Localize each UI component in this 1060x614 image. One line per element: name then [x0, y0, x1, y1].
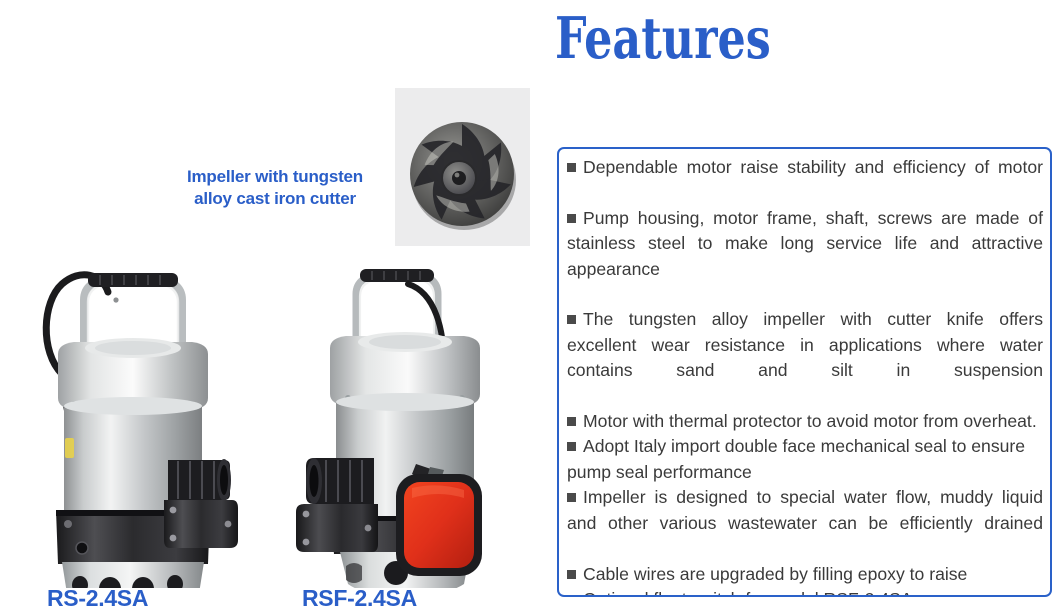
bullet-square-icon	[567, 417, 576, 426]
feature-text: Cable wires are upgraded by filling epox…	[583, 564, 967, 584]
bullet-square-icon	[567, 595, 576, 597]
feature-text: Motor with thermal protector to avoid mo…	[583, 411, 1037, 431]
impeller-caption-line1: Impeller with tungsten	[145, 166, 405, 188]
feature-text: Pump housing, motor frame, shaft, screws…	[567, 208, 1043, 279]
pump-image-rs	[18, 248, 253, 588]
pump-image-rsf	[288, 248, 523, 588]
model-label-rsf: RSF-2.4SA	[302, 585, 417, 612]
feature-item: Optional float switch for model RSF-2.4S…	[567, 587, 1043, 597]
feature-item: Adopt Italy import double face mechanica…	[567, 434, 1043, 485]
features-panel: Features Dependable motor raise stabilit…	[545, 0, 1060, 614]
feature-item: Impeller is designed to special water fl…	[567, 485, 1043, 561]
model-label-rs: RS-2.4SA	[47, 585, 148, 612]
feature-text: Adopt Italy import double face mechanica…	[567, 436, 1025, 481]
impeller-caption: Impeller with tungsten alloy cast iron c…	[145, 166, 405, 210]
feature-item: The tungsten alloy impeller with cutter …	[567, 307, 1043, 409]
bullet-square-icon	[567, 493, 576, 502]
bullet-square-icon	[567, 442, 576, 451]
features-list: Dependable motor raise stability and eff…	[557, 147, 1052, 597]
feature-item: Pump housing, motor frame, shaft, screws…	[567, 206, 1043, 308]
feature-item: Dependable motor raise stability and eff…	[567, 155, 1043, 206]
features-title: Features	[555, 8, 771, 70]
feature-text: The tungsten alloy impeller with cutter …	[567, 309, 1043, 380]
bullet-square-icon	[567, 214, 576, 223]
feature-text: Impeller is designed to special water fl…	[567, 487, 1043, 532]
impeller-caption-line2: alloy cast iron cutter	[145, 188, 405, 210]
product-images-panel: Impeller with tungsten alloy cast iron c…	[0, 0, 545, 614]
feature-text: Optional float switch for model RSF-2.4S…	[583, 589, 913, 597]
feature-item: Motor with thermal protector to avoid mo…	[567, 409, 1043, 434]
bullet-square-icon	[567, 163, 576, 172]
product-datasheet-page: Impeller with tungsten alloy cast iron c…	[0, 0, 1060, 614]
feature-item: Cable wires are upgraded by filling epox…	[567, 562, 1043, 587]
feature-text: Dependable motor raise stability and eff…	[583, 157, 1043, 177]
bullet-square-icon	[567, 315, 576, 324]
impeller-photo	[395, 88, 530, 246]
bullet-square-icon	[567, 570, 576, 579]
